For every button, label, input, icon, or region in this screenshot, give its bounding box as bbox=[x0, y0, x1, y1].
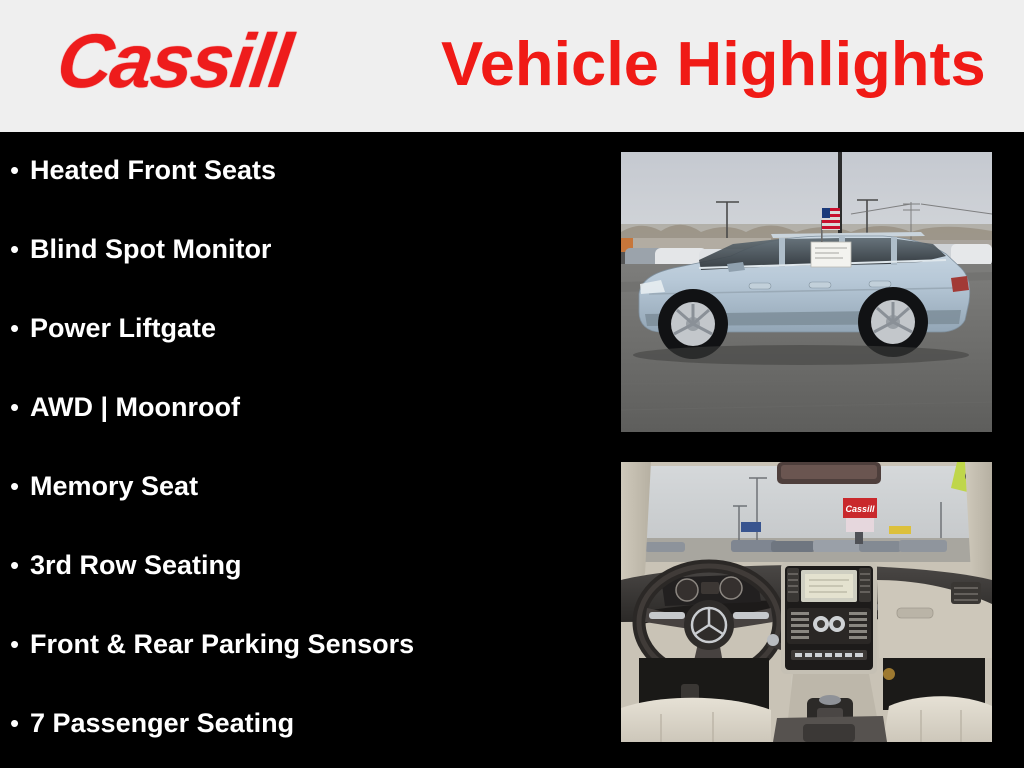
vehicle-feature-list: • Heated Front Seats • Blind Spot Monito… bbox=[0, 132, 610, 768]
feature-label: Power Liftgate bbox=[30, 312, 216, 344]
list-item: • Memory Seat bbox=[10, 470, 198, 502]
vehicle-exterior-photo bbox=[621, 152, 992, 432]
vehicle-highlights-slide: Cassill Vehicle Highlights • Heated Fron… bbox=[0, 0, 1024, 768]
feature-label: AWD | Moonroof bbox=[30, 391, 240, 423]
interior-photo-graphic: Cassill bbox=[621, 462, 992, 742]
feature-label: 3rd Row Seating bbox=[30, 549, 242, 581]
list-item: • AWD | Moonroof bbox=[10, 391, 240, 423]
feature-label: Heated Front Seats bbox=[30, 154, 276, 186]
bullet-icon: • bbox=[10, 708, 30, 738]
feature-label: Front & Rear Parking Sensors bbox=[30, 628, 414, 660]
rearview-mirror bbox=[777, 462, 881, 484]
bullet-icon: • bbox=[10, 234, 30, 264]
svg-text:Cassill: Cassill bbox=[845, 504, 875, 514]
bullet-icon: • bbox=[10, 392, 30, 422]
exterior-photo-graphic bbox=[621, 152, 992, 432]
driver-seat bbox=[621, 698, 771, 742]
bullet-icon: • bbox=[10, 629, 30, 659]
feature-label: Memory Seat bbox=[30, 470, 198, 502]
bullet-icon: • bbox=[10, 155, 30, 185]
feature-label: 7 Passenger Seating bbox=[30, 707, 294, 739]
feature-label: Blind Spot Monitor bbox=[30, 233, 271, 265]
list-item: • Front & Rear Parking Sensors bbox=[10, 628, 414, 660]
passenger-seat bbox=[883, 696, 992, 742]
list-item: • Power Liftgate bbox=[10, 312, 216, 344]
bullet-icon: • bbox=[10, 471, 30, 501]
list-item: • Heated Front Seats bbox=[10, 154, 276, 186]
cassill-brand-logo: Cassill bbox=[52, 18, 295, 106]
list-item: • 7 Passenger Seating bbox=[10, 707, 294, 739]
page-header: Cassill Vehicle Highlights bbox=[0, 0, 1024, 132]
content-area: • Heated Front Seats • Blind Spot Monito… bbox=[0, 132, 1024, 768]
bullet-icon: • bbox=[10, 550, 30, 580]
vehicle-interior-photo: Cassill bbox=[621, 462, 992, 742]
bullet-icon: • bbox=[10, 313, 30, 343]
list-item: • 3rd Row Seating bbox=[10, 549, 242, 581]
page-title: Vehicle Highlights bbox=[441, 27, 1007, 103]
list-item: • Blind Spot Monitor bbox=[10, 233, 271, 265]
